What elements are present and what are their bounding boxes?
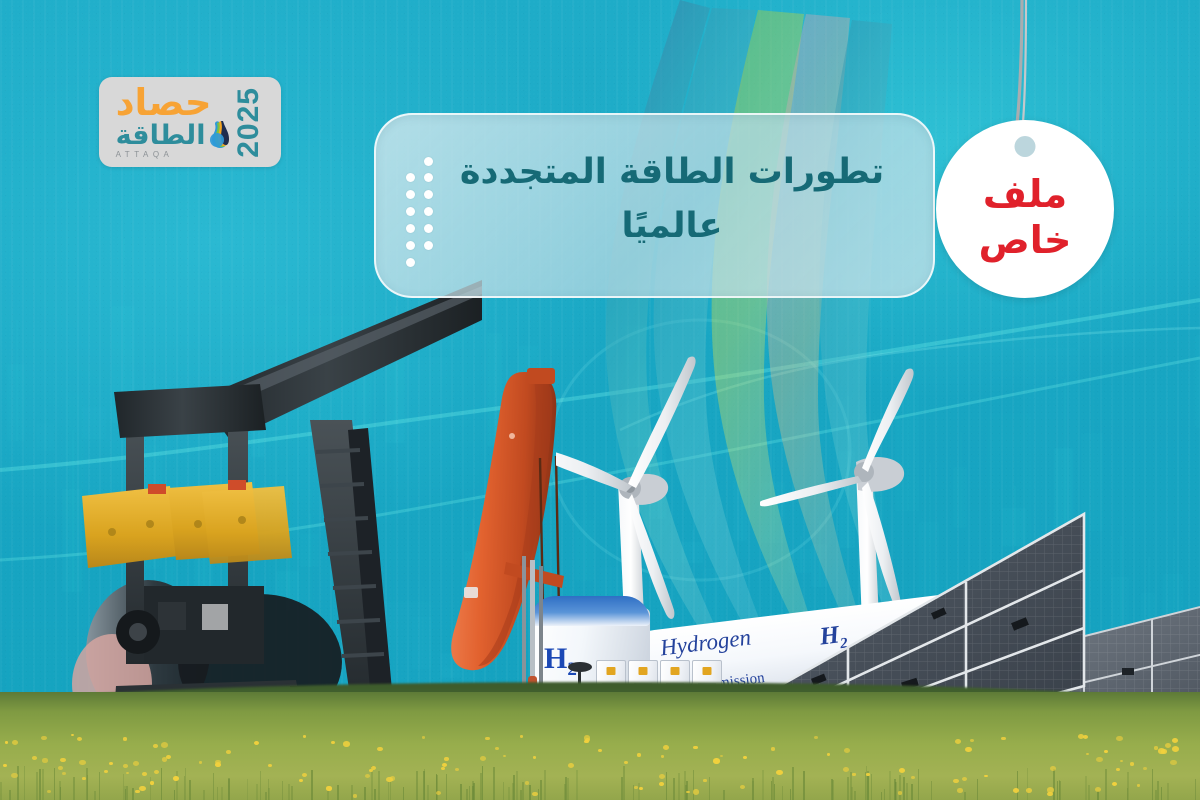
article-title-banner: تطورات الطاقة المتجددة عالميًا <box>374 113 935 298</box>
dot-grid-ornament <box>404 157 438 265</box>
logo-word-hasad: حصاد <box>116 85 212 121</box>
logo-word-taqa: الطاقة <box>116 122 206 149</box>
cover-canvas: Hydrogen H2 zero emission H2 <box>0 0 1200 800</box>
grass-field <box>0 692 1200 800</box>
attaqa-hasad-logo[interactable]: 2025 حصاد الطاقة ATTAQA <box>99 77 281 167</box>
page-title: تطورات الطاقة المتجددة عالميًا <box>457 145 887 254</box>
logo-year: 2025 <box>234 87 264 158</box>
tag-label-line-2: خاص <box>979 217 1072 263</box>
pump-jack <box>52 280 482 750</box>
tag-label-line-1: ملف <box>983 171 1067 217</box>
special-file-tag[interactable]: ملف خاص <box>936 120 1114 298</box>
flame-droplet-icon <box>208 121 230 149</box>
page-title-line-1: تطورات الطاقة المتجددة <box>457 145 887 199</box>
logo-latin-name: ATTAQA <box>116 150 174 159</box>
tag-hole <box>1015 136 1036 157</box>
page-title-line-2: عالميًا <box>457 199 887 253</box>
